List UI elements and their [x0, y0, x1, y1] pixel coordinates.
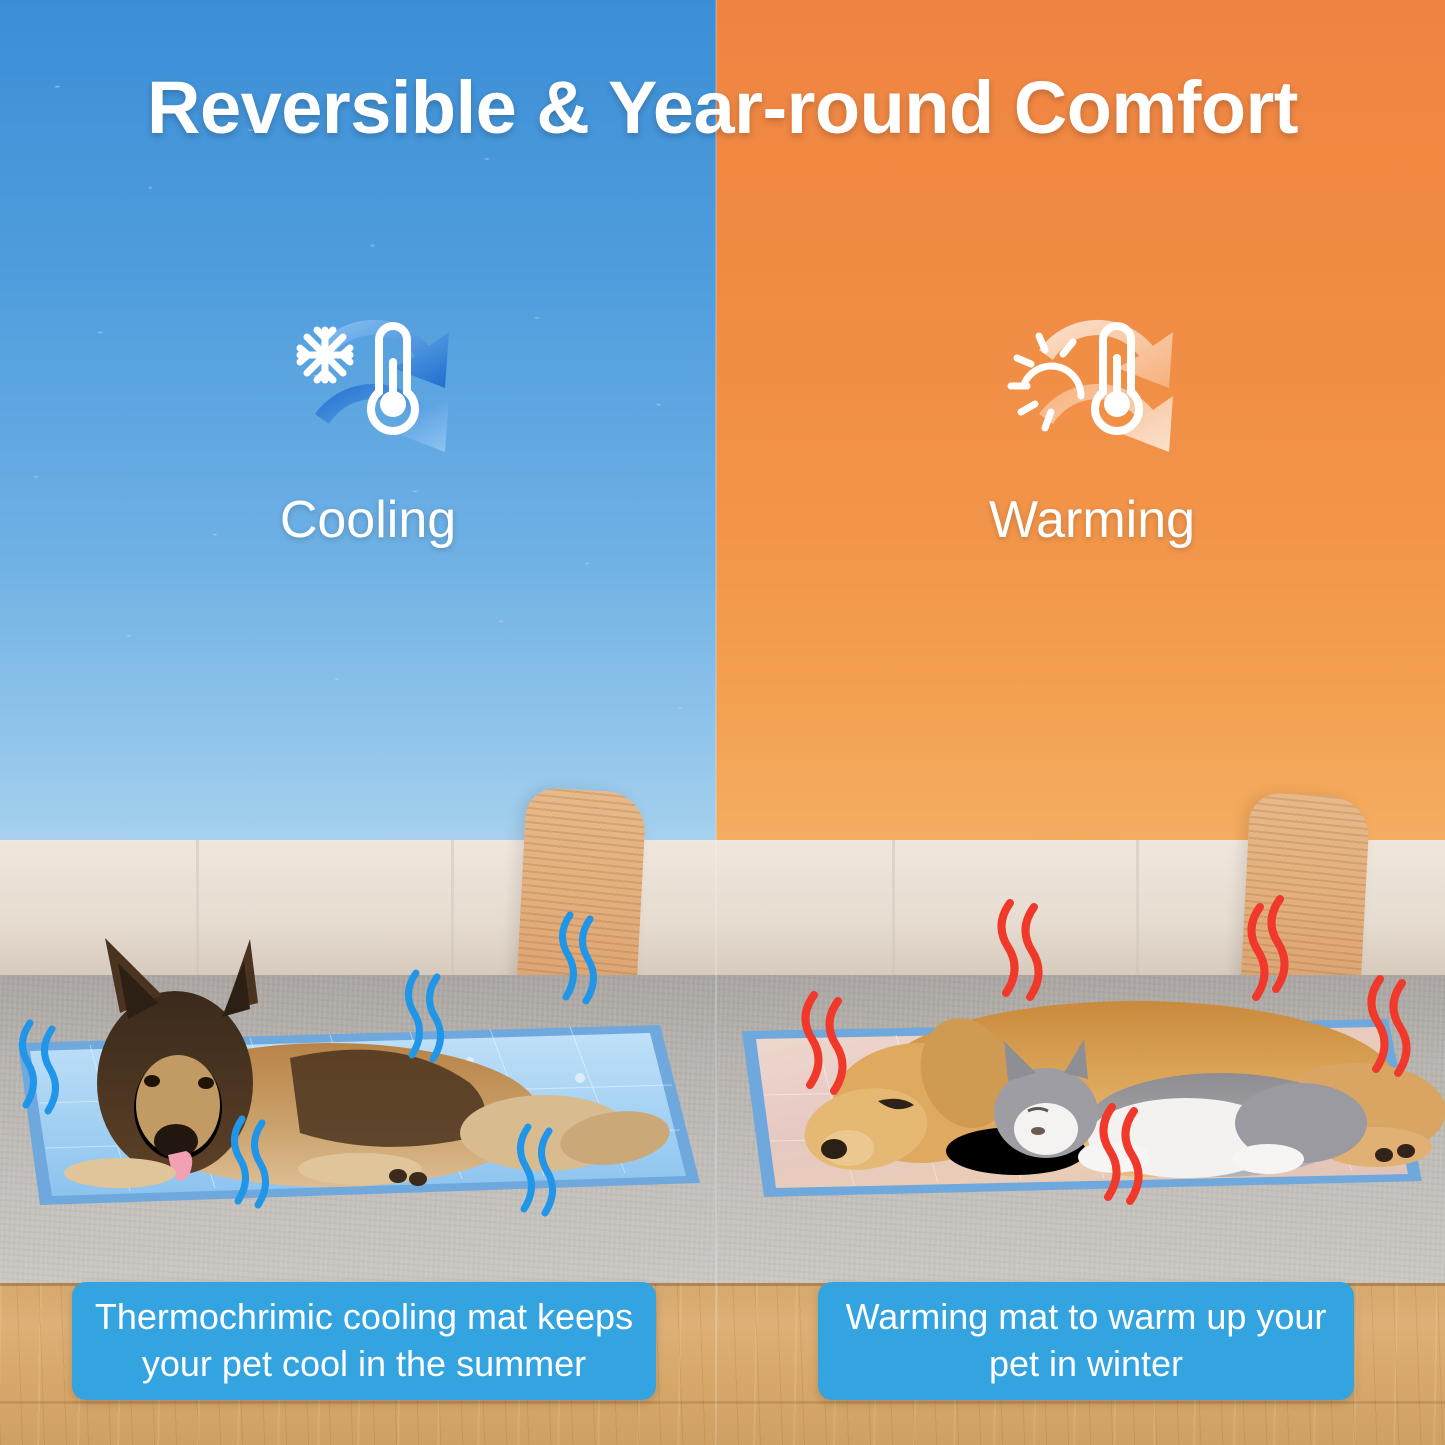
page-title: Reversible & Year-round Comfort — [147, 65, 1298, 150]
warming-mat-with-pets — [716, 933, 1445, 1263]
warming-caption-text: Warming mat to warm up your pet in winte… — [840, 1294, 1332, 1388]
warming-mode-badge: Warming — [922, 276, 1262, 550]
title-bar: Reversible & Year-round Comfort — [0, 0, 1445, 230]
warming-label: Warming — [922, 490, 1262, 550]
cooling-caption-box: Thermochrimic cooling mat keeps your pet… — [72, 1282, 656, 1400]
cooling-caption-text: Thermochrimic cooling mat keeps your pet… — [94, 1294, 634, 1388]
product-infographic: Reversible & Year-round Comfort — [0, 0, 1445, 1445]
sun-thermometer-cycle-icon — [922, 276, 1262, 506]
cooling-mat-with-dog — [0, 933, 716, 1263]
panel-divider — [715, 0, 717, 1445]
cooling-label: Cooling — [198, 490, 538, 550]
cooling-mode-badge: Cooling — [198, 276, 538, 550]
snowflake-thermometer-cycle-icon — [198, 276, 538, 506]
warming-caption-box: Warming mat to warm up your pet in winte… — [818, 1282, 1354, 1400]
